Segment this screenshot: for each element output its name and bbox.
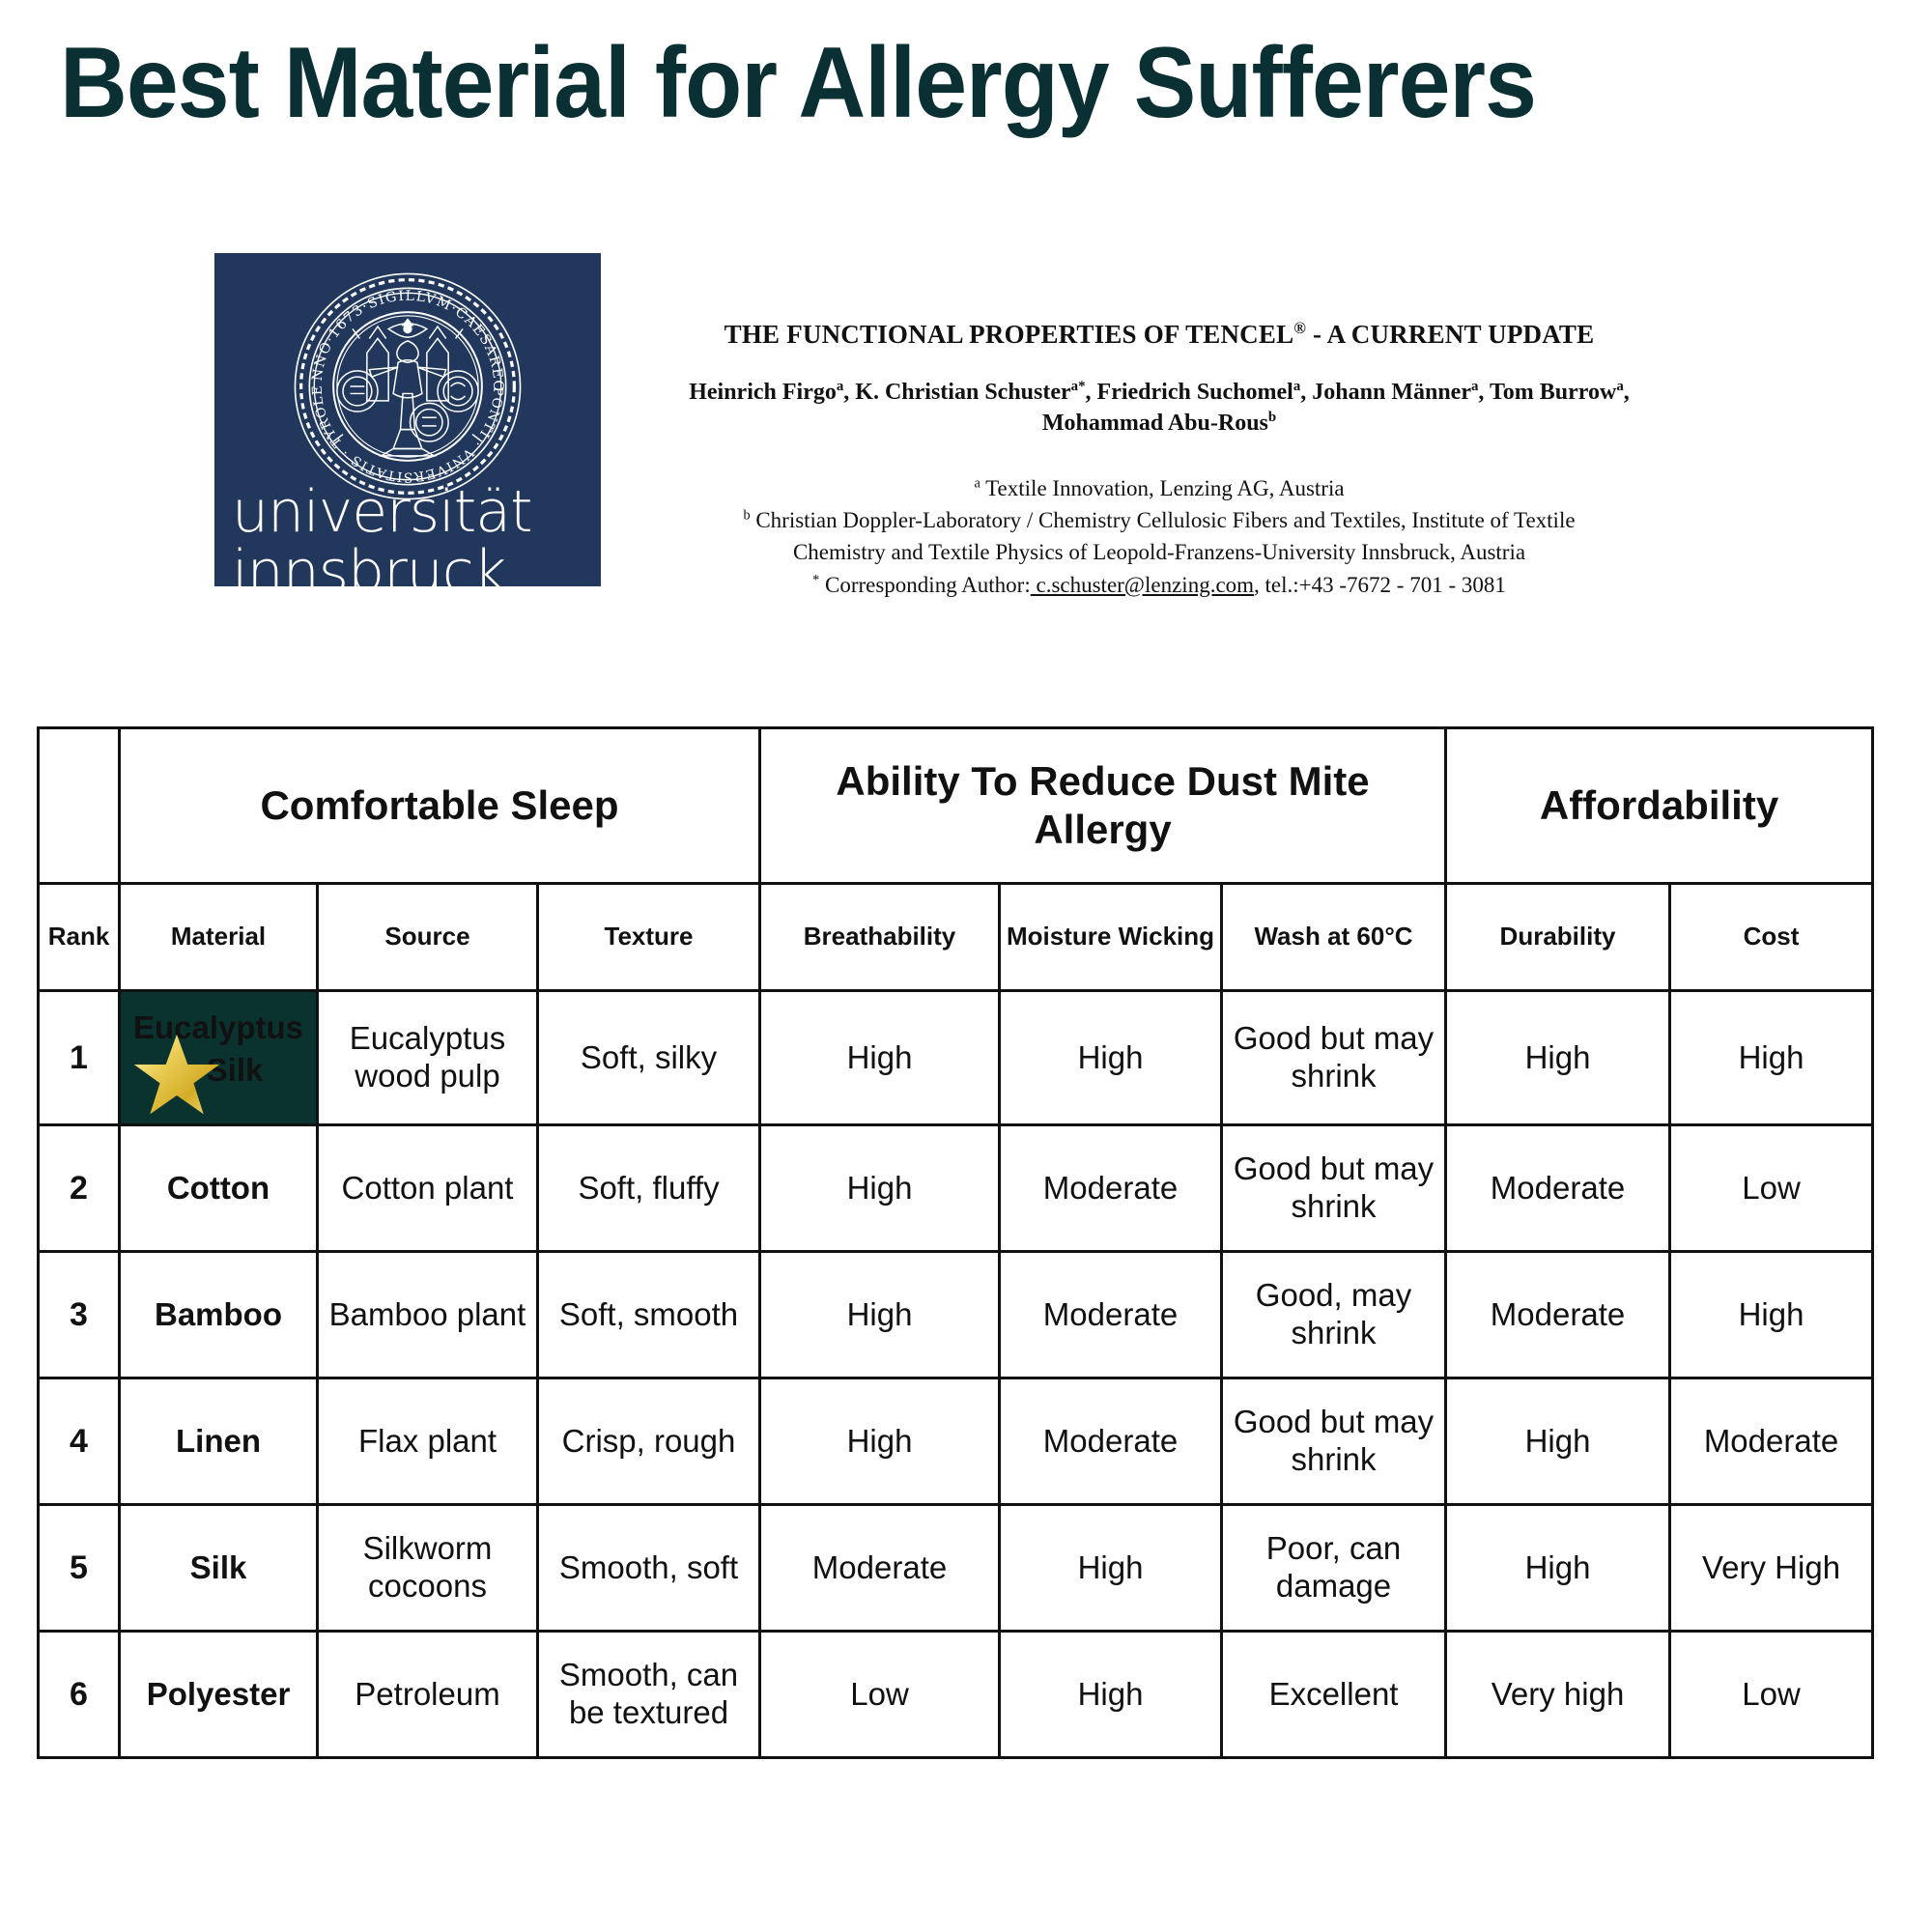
group-header-affordability: Affordability bbox=[1446, 728, 1873, 884]
author-1: Heinrich Firgo bbox=[689, 380, 837, 405]
cell-breathability: High bbox=[760, 1252, 1000, 1378]
affil-b-sup: b bbox=[743, 507, 750, 523]
author-2: , K. Christian Schuster bbox=[843, 380, 1070, 405]
group-header-comfortable-sleep: Comfortable Sleep bbox=[120, 728, 760, 884]
table-group-header-row: Comfortable Sleep Ability To Reduce Dust… bbox=[39, 728, 1873, 884]
cell-moisture-wicking: Moderate bbox=[1000, 1378, 1222, 1505]
table-row: 6 Polyester Petroleum Smooth, can be tex… bbox=[39, 1632, 1873, 1758]
cell-cost: High bbox=[1670, 991, 1873, 1125]
paper-header-block: THE FUNCTIONAL PROPERTIES OF TENCEL® - A… bbox=[618, 319, 1700, 601]
column-header-rank: Rank bbox=[39, 884, 120, 991]
cell-durability: Moderate bbox=[1446, 1252, 1670, 1378]
corr-telephone: , tel.:+43 -7672 - 701 - 3081 bbox=[1254, 573, 1506, 597]
cell-texture: Crisp, rough bbox=[538, 1378, 760, 1505]
cell-material: Polyester bbox=[120, 1632, 318, 1758]
cell-material-highlighted[interactable]: Eucalyptus Silk bbox=[120, 991, 318, 1125]
affiliation-b-line-2: Chemistry and Textile Physics of Leopold… bbox=[618, 536, 1700, 568]
cell-rank: 6 bbox=[39, 1632, 120, 1758]
paper-affiliations: a Textile Innovation, Lenzing AG, Austri… bbox=[618, 472, 1700, 601]
cell-durability: Very high bbox=[1446, 1632, 1670, 1758]
table-row: 2 Cotton Cotton plant Soft, fluffy High … bbox=[39, 1125, 1873, 1252]
cell-breathability: High bbox=[760, 991, 1000, 1125]
authors-line-1: Heinrich Firgoa, K. Christian Schustera*… bbox=[618, 377, 1700, 408]
column-header-cost: Cost bbox=[1670, 884, 1873, 991]
cell-breathability: High bbox=[760, 1378, 1000, 1505]
cell-rank: 1 bbox=[39, 991, 120, 1125]
author-5-sup: a bbox=[1616, 379, 1623, 394]
corr-label: Corresponding Author: bbox=[819, 573, 1031, 597]
authors-comma: , bbox=[1624, 380, 1630, 405]
column-header-material: Material bbox=[120, 884, 318, 991]
author-6: Mohammad Abu-Rous bbox=[1042, 411, 1268, 436]
cell-cost: Low bbox=[1670, 1632, 1873, 1758]
cell-durability: Moderate bbox=[1446, 1125, 1670, 1252]
cell-material: Bamboo bbox=[120, 1252, 318, 1378]
cell-source: Eucalyptus wood pulp bbox=[318, 991, 538, 1125]
table-row: 1 Eucalyptus Silk bbox=[39, 991, 1873, 1125]
table-row: 4 Linen Flax plant Crisp, rough High Mod… bbox=[39, 1378, 1873, 1505]
column-header-wash-at-60c: Wash at 60°C bbox=[1222, 884, 1446, 991]
university-innsbruck-logo: ANNO·1673·SIGILLVM·CAESAREO OENIPONTI · … bbox=[214, 253, 601, 586]
cell-wash-60: Excellent bbox=[1222, 1632, 1446, 1758]
group-header-dust-mite-allergy: Ability To Reduce Dust Mite Allergy bbox=[760, 728, 1446, 884]
cell-moisture-wicking: Moderate bbox=[1000, 1252, 1222, 1378]
paper-title-post: - A CURRENT UPDATE bbox=[1306, 320, 1594, 349]
author-6-sup: b bbox=[1268, 410, 1276, 425]
page-title: Best Material for Allergy Sufferers bbox=[60, 31, 1767, 136]
column-header-moisture-wicking: Moisture Wicking bbox=[1000, 884, 1222, 991]
cell-wash-60: Good, may shrink bbox=[1222, 1252, 1446, 1378]
cell-rank: 3 bbox=[39, 1252, 120, 1378]
table-row: 5 Silk Silkworm cocoons Smooth, soft Mod… bbox=[39, 1505, 1873, 1632]
paper-title-pre: THE FUNCTIONAL PROPERTIES OF TENCEL bbox=[724, 320, 1294, 349]
cell-durability: High bbox=[1446, 1505, 1670, 1632]
cell-cost: High bbox=[1670, 1252, 1873, 1378]
cell-material: Silk bbox=[120, 1505, 318, 1632]
registered-mark-icon: ® bbox=[1293, 319, 1306, 337]
cell-texture: Soft, silky bbox=[538, 991, 760, 1125]
cell-rank: 4 bbox=[39, 1378, 120, 1505]
cell-texture: Soft, smooth bbox=[538, 1252, 760, 1378]
affiliation-b-line-1: b Christian Doppler-Laboratory / Chemist… bbox=[618, 504, 1700, 536]
cell-texture: Soft, fluffy bbox=[538, 1125, 760, 1252]
cell-source: Bamboo plant bbox=[318, 1252, 538, 1378]
cell-moisture-wicking: Moderate bbox=[1000, 1125, 1222, 1252]
cell-breathability: High bbox=[760, 1125, 1000, 1252]
cell-wash-60: Good but may shrink bbox=[1222, 1125, 1446, 1252]
cell-cost: Very High bbox=[1670, 1505, 1873, 1632]
cell-texture: Smooth, soft bbox=[538, 1505, 760, 1632]
cell-wash-60: Good but may shrink bbox=[1222, 1378, 1446, 1505]
column-header-source: Source bbox=[318, 884, 538, 991]
cell-durability: High bbox=[1446, 1378, 1670, 1505]
cell-material: Linen bbox=[120, 1378, 318, 1505]
affil-a-text: Textile Innovation, Lenzing AG, Austria bbox=[980, 476, 1345, 500]
university-seal-icon: ANNO·1673·SIGILLVM·CAESAREO OENIPONTI · … bbox=[288, 267, 527, 506]
group-header-blank bbox=[39, 728, 120, 884]
author-5: , Tom Burrow bbox=[1478, 380, 1616, 405]
table-row: 3 Bamboo Bamboo plant Soft, smooth High … bbox=[39, 1252, 1873, 1378]
corresponding-author-line: * Corresponding Author: c.schuster@lenzi… bbox=[618, 569, 1700, 601]
affil-b-text-1: Christian Doppler-Laboratory / Chemistry… bbox=[751, 508, 1576, 532]
cell-source: Flax plant bbox=[318, 1378, 538, 1505]
corresponding-email-link[interactable]: c.schuster@lenzing.com bbox=[1031, 573, 1254, 597]
cell-material: Cotton bbox=[120, 1125, 318, 1252]
column-header-breathability: Breathability bbox=[760, 884, 1000, 991]
paper-authors: Heinrich Firgoa, K. Christian Schustera*… bbox=[618, 377, 1700, 440]
cell-source: Petroleum bbox=[318, 1632, 538, 1758]
cell-wash-60: Good but may shrink bbox=[1222, 991, 1446, 1125]
cell-source: Silkworm cocoons bbox=[318, 1505, 538, 1632]
cell-cost: Moderate bbox=[1670, 1378, 1873, 1505]
cell-moisture-wicking: High bbox=[1000, 1632, 1222, 1758]
column-header-texture: Texture bbox=[538, 884, 760, 991]
logo-line-innsbruck: innsbruck bbox=[232, 543, 638, 601]
cell-wash-60: Poor, can damage bbox=[1222, 1505, 1446, 1632]
cell-breathability: Low bbox=[760, 1632, 1000, 1758]
cell-moisture-wicking: High bbox=[1000, 991, 1222, 1125]
materials-comparison-table: Comfortable Sleep Ability To Reduce Dust… bbox=[37, 726, 1874, 1759]
cell-cost: Low bbox=[1670, 1125, 1873, 1252]
gold-star-icon bbox=[130, 1031, 223, 1123]
column-header-durability: Durability bbox=[1446, 884, 1670, 991]
cell-durability: High bbox=[1446, 991, 1670, 1125]
table-column-header-row: Rank Material Source Texture Breathabili… bbox=[39, 884, 1873, 991]
authors-line-2: Mohammad Abu-Rousb bbox=[618, 408, 1700, 439]
affiliation-a: a Textile Innovation, Lenzing AG, Austri… bbox=[618, 472, 1700, 504]
cell-rank: 5 bbox=[39, 1505, 120, 1632]
logo-line-universitaet: universität bbox=[232, 483, 599, 541]
author-4: , Johann Männer bbox=[1300, 380, 1471, 405]
cell-texture: Smooth, can be textured bbox=[538, 1632, 760, 1758]
author-2-sup: a* bbox=[1071, 379, 1086, 394]
cell-source: Cotton plant bbox=[318, 1125, 538, 1252]
cell-breathability: Moderate bbox=[760, 1505, 1000, 1632]
author-3: , Friedrich Suchomel bbox=[1086, 380, 1293, 405]
cell-rank: 2 bbox=[39, 1125, 120, 1252]
cell-moisture-wicking: High bbox=[1000, 1505, 1222, 1632]
paper-title: THE FUNCTIONAL PROPERTIES OF TENCEL® - A… bbox=[618, 319, 1700, 352]
